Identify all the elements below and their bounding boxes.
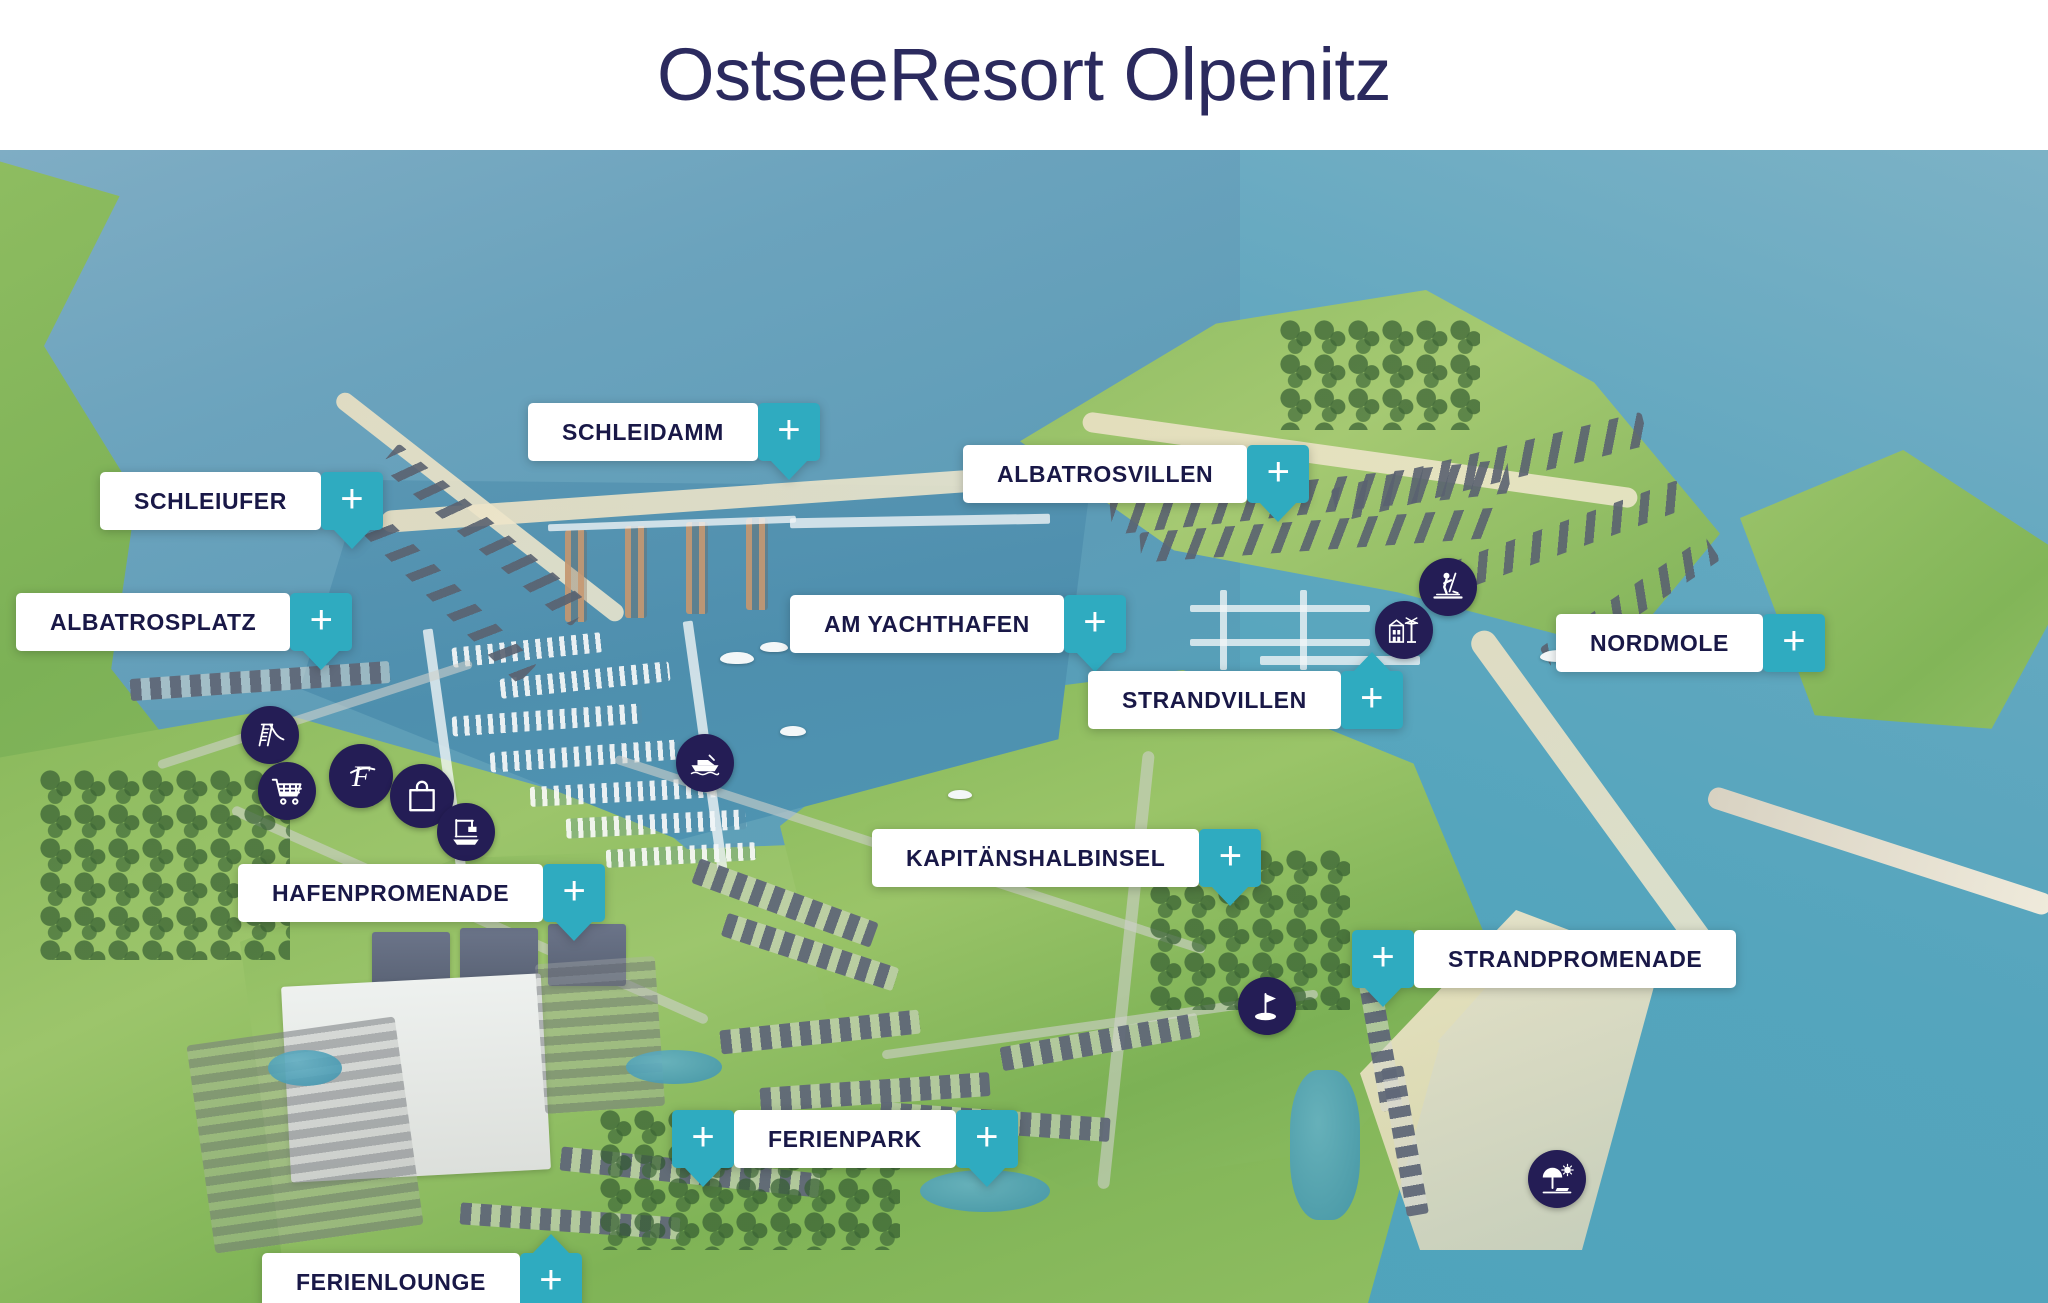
plus-icon: + xyxy=(1083,602,1106,642)
hotspot-ferienpark-plus-button-left[interactable]: + xyxy=(672,1110,734,1168)
poi-marker-sup[interactable] xyxy=(1419,558,1477,616)
plus-icon: + xyxy=(539,1260,562,1300)
hotspot-ferienlounge[interactable]: FERIENLOUNGE+ xyxy=(262,1253,582,1303)
poi-marker-waterslide[interactable] xyxy=(241,706,299,764)
hotspot-albatrosplatz-label: ALBATROSPLATZ xyxy=(16,593,290,651)
water-slide-icon xyxy=(252,717,288,753)
hotspot-hafenpromenade[interactable]: HAFENPROMENADE+ xyxy=(238,864,605,922)
hotspot-schleidamm[interactable]: SCHLEIDAMM+ xyxy=(528,403,820,461)
poi-marker-spa-resort[interactable] xyxy=(1375,601,1433,659)
plus-icon: + xyxy=(691,1117,714,1157)
hotspot-strandvillen[interactable]: STRANDVILLEN+ xyxy=(1088,671,1403,729)
plus-icon: + xyxy=(777,410,800,450)
hotspot-kapitaenshalbinsel[interactable]: KAPITÄNSHALBINSEL+ xyxy=(872,829,1261,887)
poi-marker-golf[interactable] xyxy=(1238,977,1296,1035)
resort-map-page: OstseeResort Olpenitz xyxy=(0,0,2048,1303)
shopping-cart-icon xyxy=(269,773,305,809)
hotspot-ferienlounge-label: FERIENLOUNGE xyxy=(262,1253,520,1303)
boat-crane-icon xyxy=(448,814,484,850)
hotspot-albatrosvillen[interactable]: ALBATROSVILLEN+ xyxy=(963,445,1309,503)
hotspot-albatrosplatz-plus-button[interactable]: + xyxy=(290,593,352,651)
hotspot-am-yachthafen-label: AM YACHTHAFEN xyxy=(790,595,1064,653)
poi-marker-marina[interactable] xyxy=(676,734,734,792)
hotspot-schleiufer-label: SCHLEIUFER xyxy=(100,472,321,530)
page-title: OstseeResort Olpenitz xyxy=(657,38,1391,112)
map-base-image xyxy=(0,150,2048,1303)
hotspot-kapitaenshalbinsel-plus-button[interactable]: + xyxy=(1199,829,1261,887)
hotspot-albatrosvillen-plus-button[interactable]: + xyxy=(1247,445,1309,503)
poi-marker-supermarket[interactable] xyxy=(258,762,316,820)
poi-marker-boatlift[interactable] xyxy=(437,803,495,861)
hotspot-hafenpromenade-plus-button[interactable]: + xyxy=(543,864,605,922)
motorboat-icon xyxy=(687,745,723,781)
ferienpark-f-icon: F xyxy=(341,756,381,796)
hotspot-schleidamm-label: SCHLEIDAMM xyxy=(528,403,758,461)
poi-marker-beach[interactable] xyxy=(1528,1150,1586,1208)
poi-marker-ferienpark-f[interactable]: F xyxy=(329,744,393,808)
hotspot-strandvillen-plus-button[interactable]: + xyxy=(1341,671,1403,729)
hotspot-schleidamm-plus-button[interactable]: + xyxy=(758,403,820,461)
hotspot-ferienpark-plus-button-right[interactable]: + xyxy=(956,1110,1018,1168)
hotspot-hafenpromenade-label: HAFENPROMENADE xyxy=(238,864,543,922)
plus-icon: + xyxy=(1219,836,1242,876)
plus-icon: + xyxy=(1782,621,1805,661)
hotspot-nordmole-plus-button[interactable]: + xyxy=(1763,614,1825,672)
svg-text:F: F xyxy=(351,760,371,793)
hotspot-am-yachthafen-plus-button[interactable]: + xyxy=(1064,595,1126,653)
plus-icon: + xyxy=(310,600,333,640)
hotspot-albatrosplatz[interactable]: ALBATROSPLATZ+ xyxy=(16,593,352,651)
paddleboard-icon xyxy=(1430,569,1466,605)
plus-icon: + xyxy=(1267,452,1290,492)
hotspot-ferienlounge-plus-button[interactable]: + xyxy=(520,1253,582,1303)
golf-flag-icon xyxy=(1249,988,1285,1024)
hotspot-nordmole-label: NORDMOLE xyxy=(1556,614,1763,672)
hotspot-ferienpark[interactable]: +FERIENPARK+ xyxy=(672,1110,1018,1168)
title-bar: OstseeResort Olpenitz xyxy=(0,0,2048,150)
plus-icon: + xyxy=(562,871,585,911)
beach-umbrella-icon xyxy=(1539,1161,1575,1197)
plus-icon: + xyxy=(340,479,363,519)
plus-icon: + xyxy=(975,1117,998,1157)
hotspot-schleiufer-plus-button[interactable]: + xyxy=(321,472,383,530)
plus-icon: + xyxy=(1371,937,1394,977)
spa-building-icon xyxy=(1386,612,1422,648)
hotspot-schleiufer[interactable]: SCHLEIUFER+ xyxy=(100,472,383,530)
hotspot-albatrosvillen-label: ALBATROSVILLEN xyxy=(963,445,1247,503)
plus-icon: + xyxy=(1360,678,1383,718)
hotspot-strandvillen-label: STRANDVILLEN xyxy=(1088,671,1341,729)
hotspot-strandpromenade-plus-button[interactable]: + xyxy=(1352,930,1414,988)
shopping-bag-icon xyxy=(402,776,442,816)
hotspot-ferienpark-label: FERIENPARK xyxy=(734,1110,956,1168)
resort-map[interactable]: F SCHLEIDAMM+SCHLEIUFER+ALBATROSVILLEN+A… xyxy=(0,150,2048,1303)
hotspot-am-yachthafen[interactable]: AM YACHTHAFEN+ xyxy=(790,595,1126,653)
hotspot-kapitaenshalbinsel-label: KAPITÄNSHALBINSEL xyxy=(872,829,1199,887)
hotspot-nordmole[interactable]: NORDMOLE+ xyxy=(1556,614,1825,672)
hotspot-strandpromenade-label: STRANDPROMENADE xyxy=(1414,930,1736,988)
hotspot-strandpromenade[interactable]: STRANDPROMENADE+ xyxy=(1352,930,1736,988)
